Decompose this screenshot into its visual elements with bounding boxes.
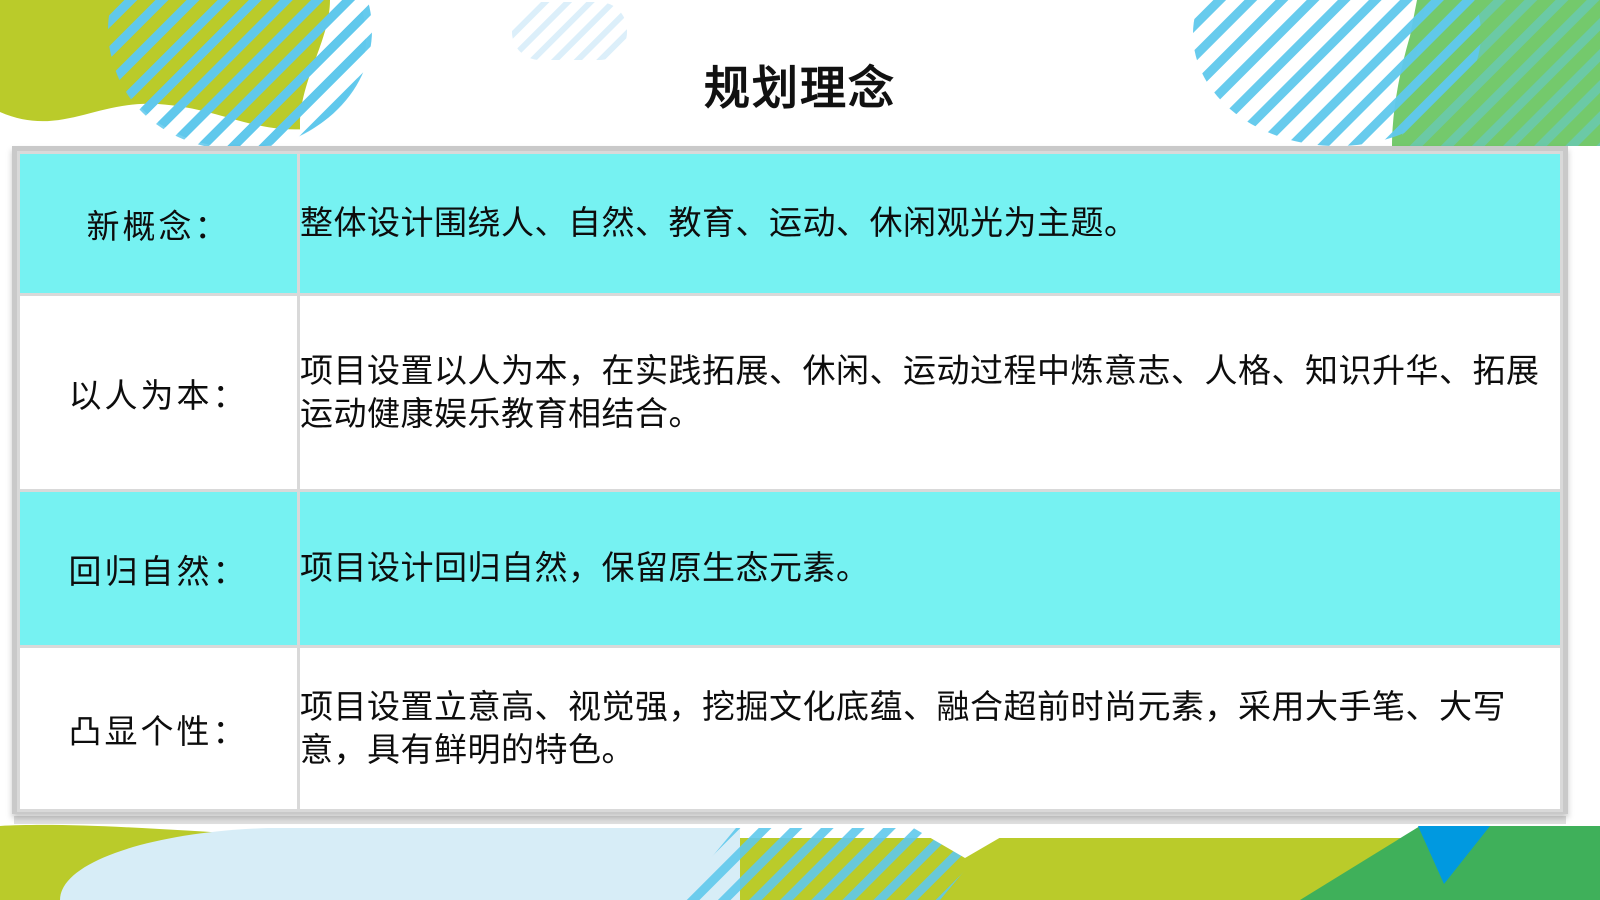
slide-canvas: 规划理念 新概念： 整体设计围绕人、自然、教育、运动、休闲观光为主题。 以人为本… xyxy=(0,0,1600,900)
table-row: 以人为本： 项目设置以人为本，在实践拓展、休闲、运动过程中炼意志、人格、知识升华… xyxy=(19,295,1562,491)
planning-concept-table: 新概念： 整体设计围绕人、自然、教育、运动、休闲观光为主题。 以人为本： 项目设… xyxy=(12,146,1568,814)
blue-triangle-bottom-right xyxy=(1418,826,1490,884)
row-text-cell: 项目设置以人为本，在实践拓展、休闲、运动过程中炼意志、人格、知识升华、拓展运动健… xyxy=(299,295,1562,491)
table-row: 回归自然： 项目设计回归自然，保留原生态元素。 xyxy=(19,491,1562,647)
green-shape-bottom-right xyxy=(1060,826,1600,900)
table-row: 凸显个性： 项目设置立意高、视觉强，挖掘文化底蕴、融合超前时尚元素，采用大手笔、… xyxy=(19,647,1562,811)
concept-table: 新概念： 整体设计围绕人、自然、教育、运动、休闲观光为主题。 以人为本： 项目设… xyxy=(17,151,1563,812)
striped-band-bottom-center xyxy=(676,828,1000,900)
table-body: 新概念： 整体设计围绕人、自然、教育、运动、休闲观光为主题。 以人为本： 项目设… xyxy=(19,153,1562,811)
pale-blue-shape-bottom-left xyxy=(60,828,740,900)
row-label-cell: 以人为本： xyxy=(19,295,299,491)
row-label-cell: 凸显个性： xyxy=(19,647,299,811)
row-text-cell: 整体设计围绕人、自然、教育、运动、休闲观光为主题。 xyxy=(299,153,1562,295)
row-label-cell: 回归自然： xyxy=(19,491,299,647)
olive-band-bottom xyxy=(0,825,1600,900)
table-row: 新概念： 整体设计围绕人、自然、教育、运动、休闲观光为主题。 xyxy=(19,153,1562,295)
white-notch-bottom-center xyxy=(910,826,1020,858)
row-text-cell: 项目设置立意高、视觉强，挖掘文化底蕴、融合超前时尚元素，采用大手笔、大写意，具有… xyxy=(299,647,1562,811)
page-title: 规划理念 xyxy=(0,52,1600,118)
table-drop-shadow xyxy=(14,816,1566,824)
row-text-cell: 项目设计回归自然，保留原生态元素。 xyxy=(299,491,1562,647)
row-label-cell: 新概念： xyxy=(19,153,299,295)
